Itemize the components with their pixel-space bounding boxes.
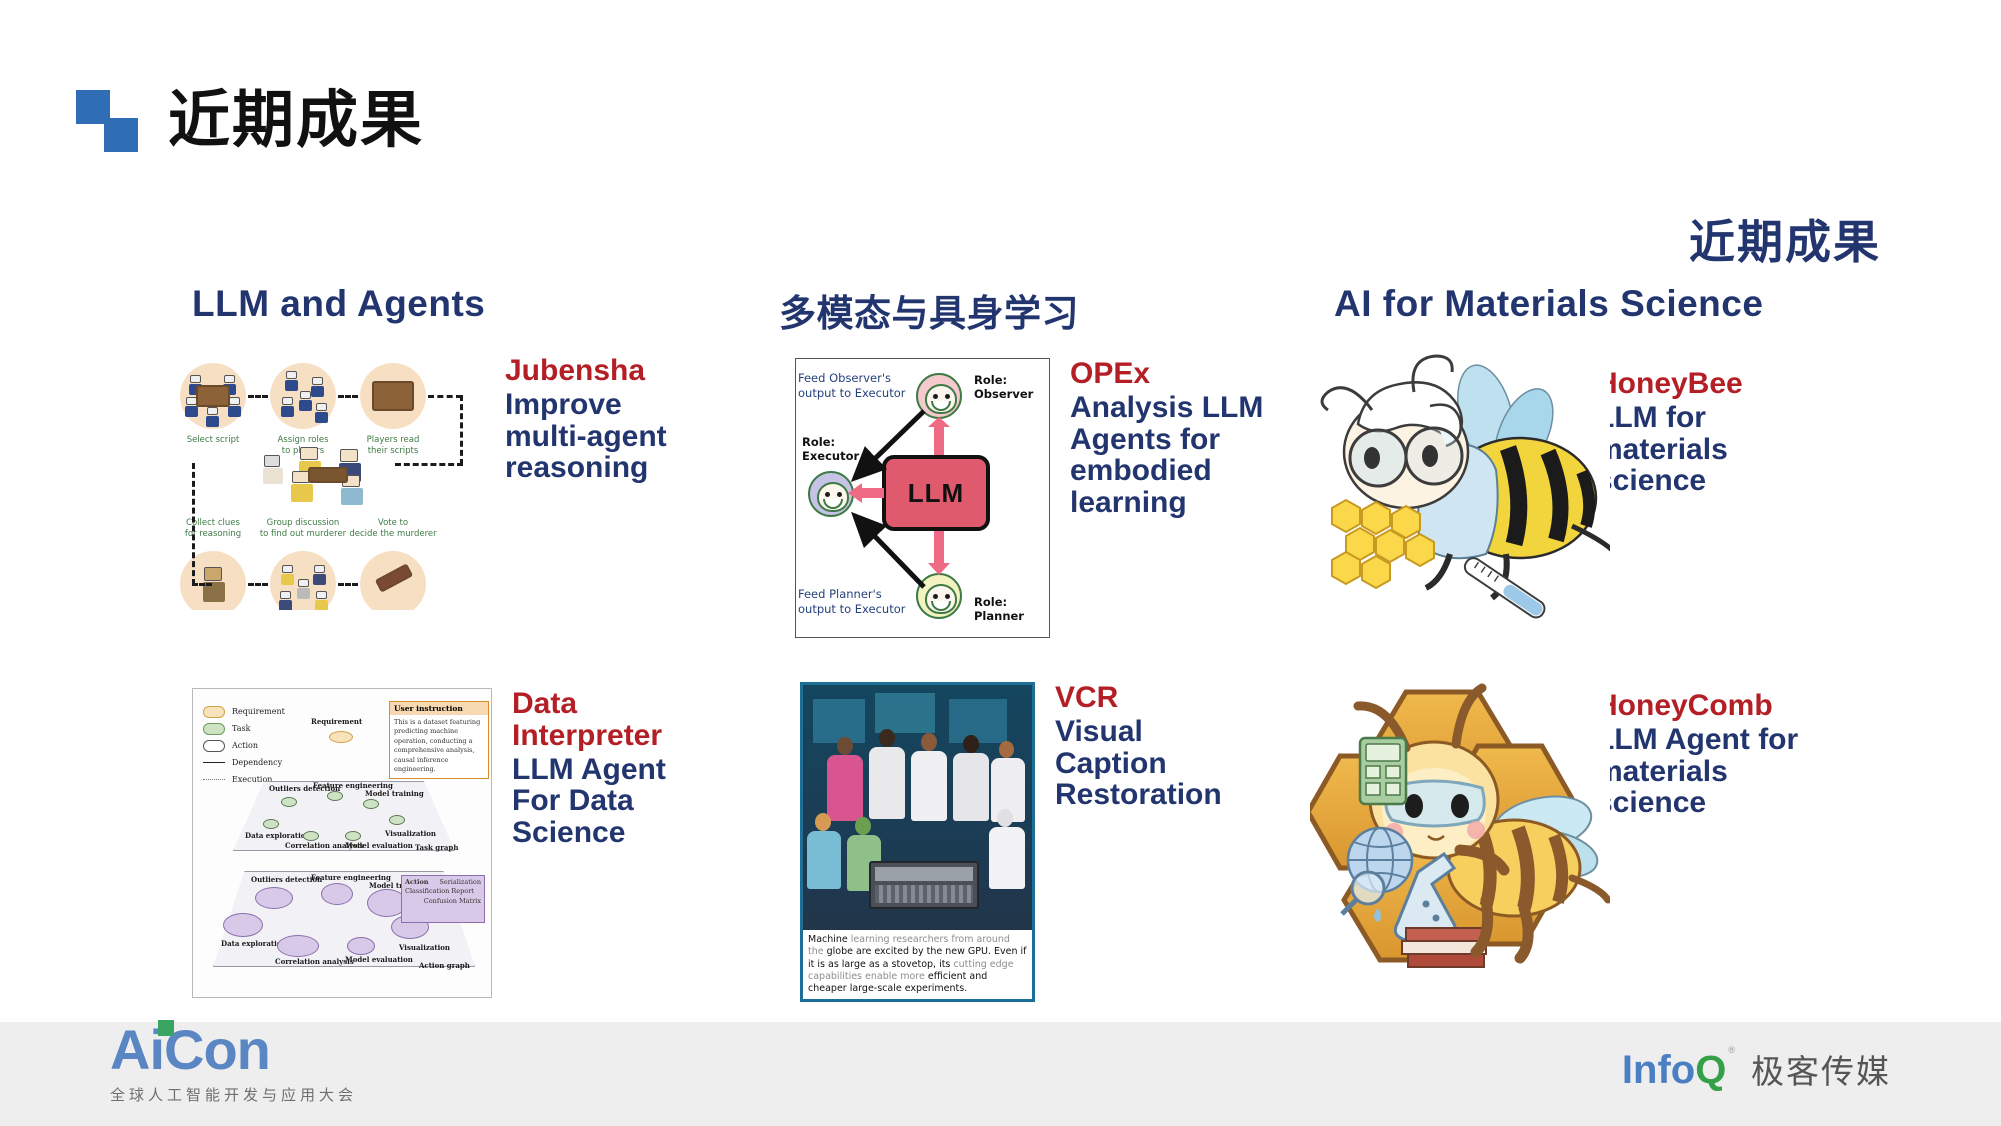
figure-honeycomb-illustration — [1310, 672, 1610, 972]
item-name-data-interpreter: Data Interpreter — [512, 688, 666, 752]
role-label-observer: Role: Observer — [974, 373, 1033, 402]
diagram-action-box: Action Serialization Classification Repo… — [401, 875, 485, 923]
item-name-honeycomb: HoneyComb — [1596, 690, 1798, 722]
caption-honeybee: HoneyBee LLM for materials science — [1596, 368, 1743, 497]
infoq-wordmark-q: Q — [1695, 1050, 1726, 1090]
diagram-legend: Requirement Task Action Dependency Execu… — [203, 703, 285, 788]
card-opex[interactable]: LLM Feed Observer's output to Executor F… — [795, 358, 1263, 638]
figure-jubensha-flowchart: Select script Assign rolesto players Pla… — [170, 355, 485, 610]
infoq-wordmark-info: Info — [1622, 1050, 1695, 1090]
card-data-interpreter[interactable]: Requirement Task Action Dependency Execu… — [192, 688, 666, 998]
brand-squares-icon — [76, 90, 138, 152]
card-honeycomb[interactable]: HoneyComb LLM Agent for materials scienc… — [1310, 672, 1798, 972]
caption-data-interpreter: Data Interpreter LLM Agent For Data Scie… — [512, 688, 666, 849]
role-label-executor: Role: Executor — [802, 435, 859, 464]
figure-vcr-image: Machine learning researchers from around… — [800, 682, 1035, 1002]
item-desc-jubensha: Improve multi-agent reasoning — [505, 389, 667, 484]
figure-opex-diagram: LLM Feed Observer's output to Executor F… — [795, 358, 1050, 638]
slide-header: 近期成果 — [76, 90, 424, 152]
corner-title: 近期成果 — [1689, 206, 1881, 272]
item-name-jubensha: Jubensha — [505, 355, 667, 387]
role-label-planner: Role: Planner — [974, 595, 1024, 624]
annotation-observer-feed: Feed Observer's output to Executor — [798, 371, 905, 401]
figure-data-interpreter-diagram: Requirement Task Action Dependency Execu… — [192, 688, 492, 998]
caption-jubensha: Jubensha Improve multi-agent reasoning — [505, 355, 667, 484]
slide-root: 近期成果 近期成果 LLM and Agents 多模态与具身学习 AI for… — [0, 0, 2001, 1126]
aicon-dot-icon — [158, 1020, 174, 1036]
infoq-trademark: ® — [1728, 1045, 1735, 1055]
vcr-caption-text: Machine learning researchers from around… — [803, 930, 1032, 999]
figure-honeybee-illustration — [1310, 348, 1610, 633]
item-name-honeybee: HoneyBee — [1596, 368, 1743, 400]
aicon-logo: AiCon 全球人工智能开发与应用大会 — [110, 1022, 357, 1105]
item-desc-opex: Analysis LLM Agents for embodied learnin… — [1070, 392, 1263, 519]
card-vcr[interactable]: Machine learning researchers from around… — [800, 682, 1222, 1002]
column-heading-multimodal-embodied: 多模态与具身学习 — [779, 283, 1079, 337]
item-name-opex: OPEx — [1070, 358, 1263, 390]
card-jubensha[interactable]: Select script Assign rolesto players Pla… — [170, 355, 667, 610]
caption-vcr: VCR Visual Caption Restoration — [1055, 682, 1222, 811]
column-heading-ai-materials-science: AI for Materials Science — [1334, 283, 1763, 325]
item-desc-data-interpreter: LLM Agent For Data Science — [512, 754, 666, 849]
item-name-vcr: VCR — [1055, 682, 1222, 714]
caption-opex: OPEx Analysis LLM Agents for embodied le… — [1070, 358, 1263, 519]
column-heading-llm-and-agents: LLM and Agents — [192, 283, 485, 325]
infoq-chinese-name: 极客传媒 — [1751, 1045, 1891, 1093]
diagram-callout: User instruction This is a dataset featu… — [389, 701, 489, 779]
item-desc-honeybee: LLM for materials science — [1596, 402, 1743, 497]
aicon-wordmark: AiCon — [110, 1022, 270, 1078]
item-desc-honeycomb: LLM Agent for materials science — [1596, 724, 1798, 819]
aicon-subtitle: 全球人工智能开发与应用大会 — [110, 1084, 357, 1105]
annotation-planner-feed: Feed Planner's output to Executor — [798, 587, 905, 617]
diagram-root-label: Requirement — [311, 717, 362, 726]
card-honeybee[interactable]: HoneyBee LLM for materials science — [1310, 348, 1743, 633]
caption-honeycomb: HoneyComb LLM Agent for materials scienc… — [1596, 690, 1798, 819]
page-title: 近期成果 — [168, 90, 424, 152]
diagram-root-node — [329, 731, 353, 743]
infoq-logo: Info Q ® 极客传媒 — [1622, 1045, 1891, 1093]
item-desc-vcr: Visual Caption Restoration — [1055, 716, 1222, 811]
